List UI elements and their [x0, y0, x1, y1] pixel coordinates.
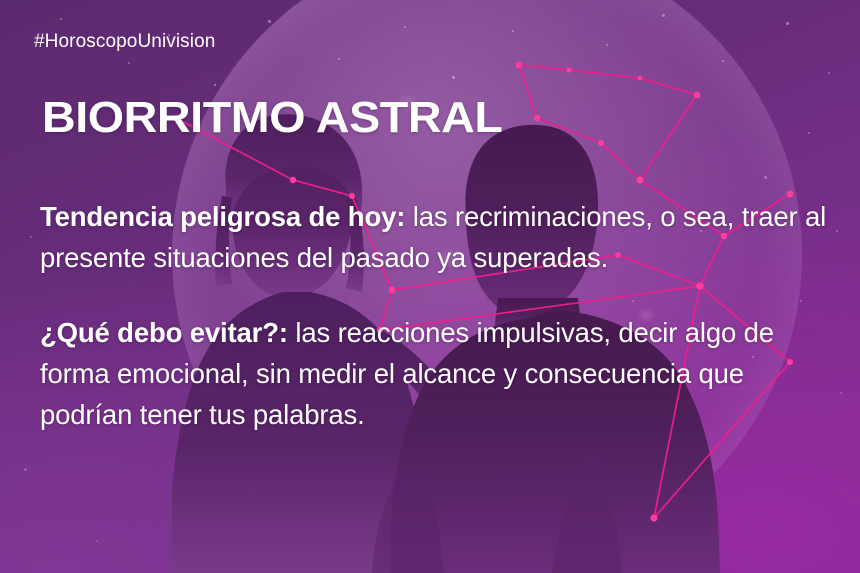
hashtag-label: #HoroscopoUnivision — [34, 31, 215, 53]
horoscope-body: Tendencia peligrosa de hoy: las recrimin… — [40, 196, 830, 435]
section-evitar-label: ¿Qué debo evitar?: — [40, 317, 288, 348]
horoscope-card: #HoroscopoUnivision BIORRITMO ASTRAL Ten… — [0, 0, 860, 573]
paragraph-gap — [40, 278, 830, 312]
section-tendencia: Tendencia peligrosa de hoy: las recrimin… — [40, 196, 830, 278]
section-tendencia-label: Tendencia peligrosa de hoy: — [40, 201, 405, 232]
section-evitar: ¿Qué debo evitar?: las reacciones impuls… — [40, 312, 830, 435]
page-title: BIORRITMO ASTRAL — [42, 94, 502, 142]
